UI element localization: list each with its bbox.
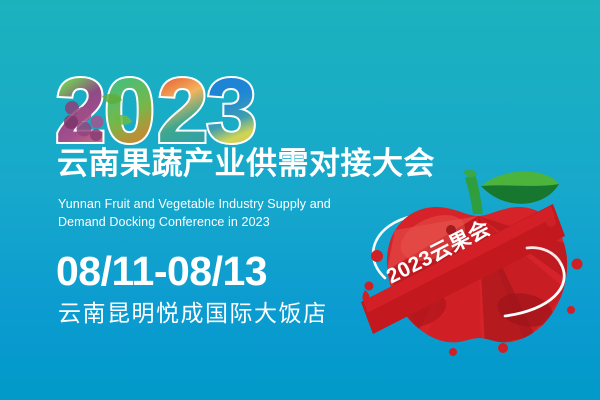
- apple-stem: [465, 174, 483, 214]
- conference-title-en-line2: Demand Docking Conference in 2023: [58, 214, 388, 232]
- apple-leaf-dark: [481, 184, 559, 204]
- conference-title-en: Yunnan Fruit and Vegetable Industry Supp…: [58, 196, 388, 231]
- conference-title-en-line1: Yunnan Fruit and Vegetable Industry Supp…: [58, 196, 388, 214]
- event-venue: 云南昆明悦成国际大饭店: [58, 298, 328, 328]
- event-date-range: 08/11-08/13: [56, 248, 267, 294]
- promo-banner: 2 0 2 3 云南果蔬产业供需对接大会 Yunnan Fruit and Ve…: [0, 0, 600, 400]
- apple-illustration: 2023云果会: [355, 160, 600, 360]
- year-logo: 2 0 2 3: [58, 62, 258, 146]
